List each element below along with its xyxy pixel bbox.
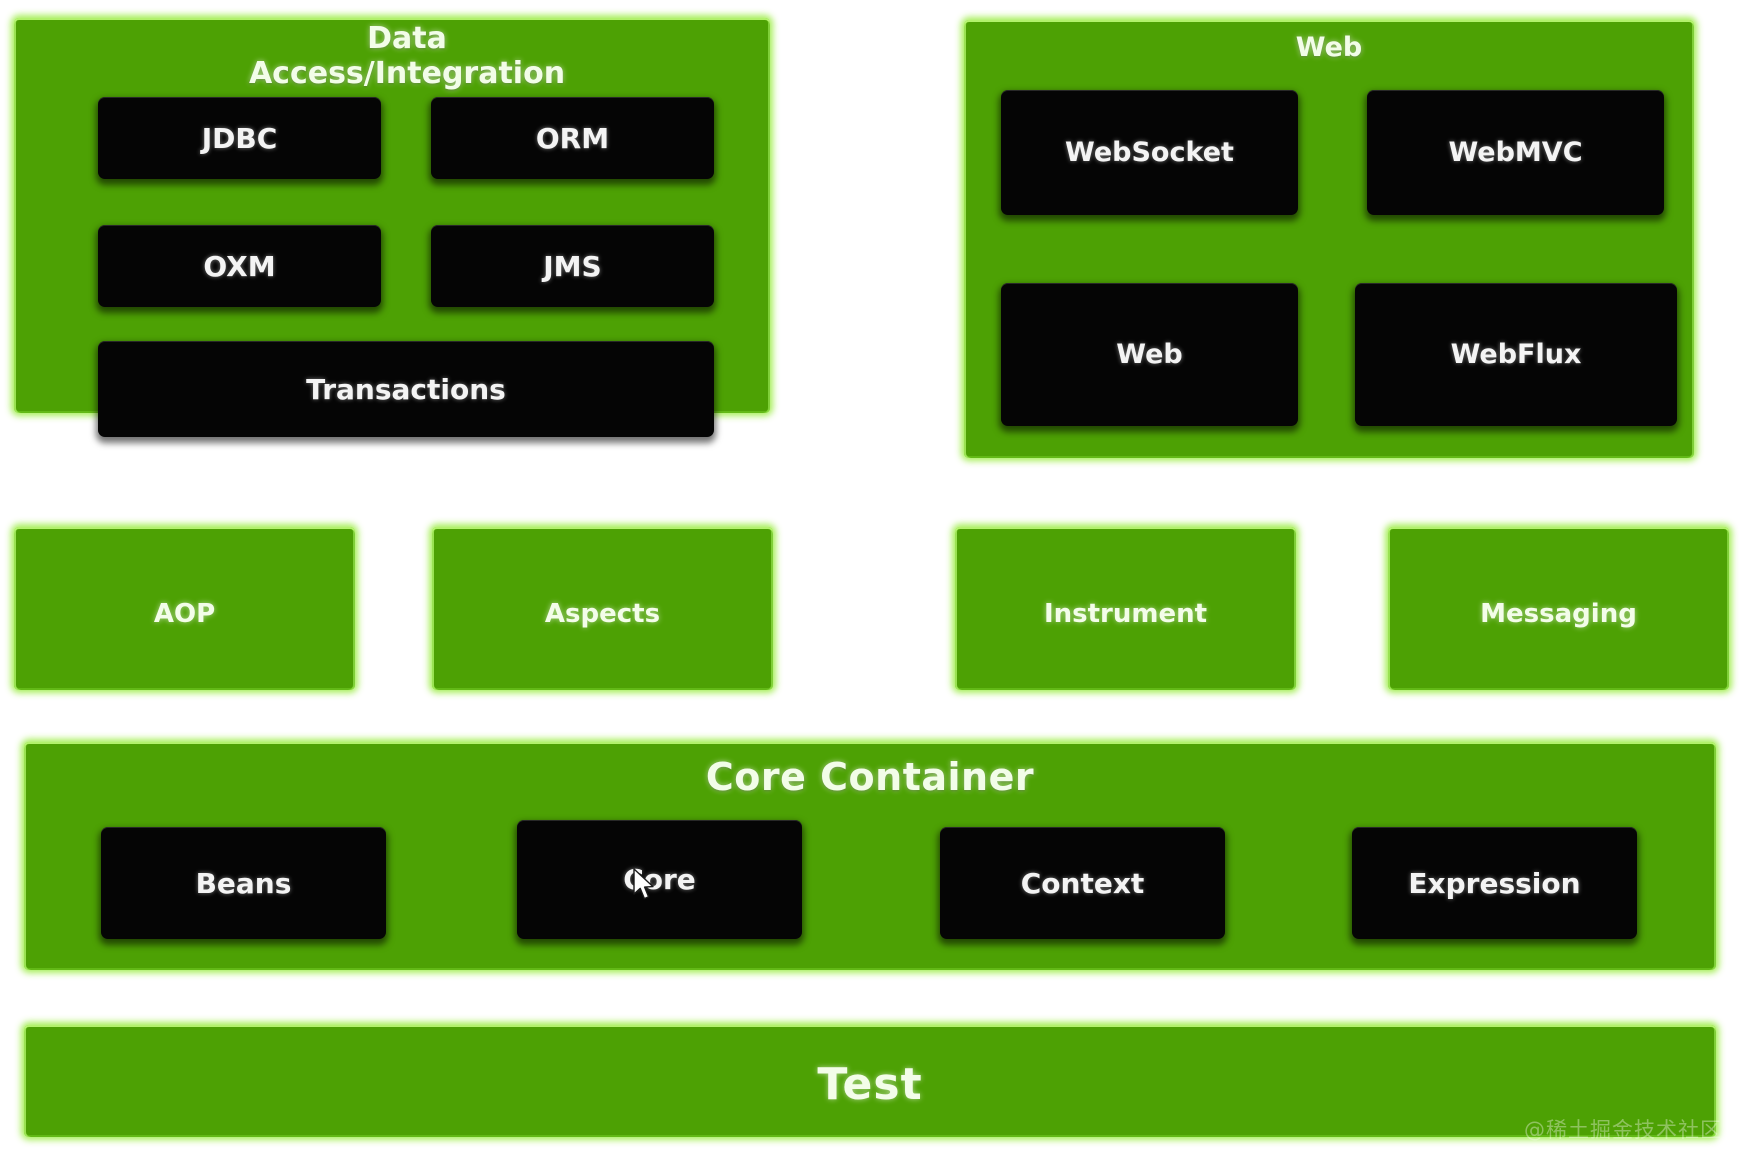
module-instrument[interactable]: Instrument (955, 527, 1296, 690)
module-expression-label: Expression (1408, 867, 1580, 900)
module-aop-label: AOP (14, 599, 355, 629)
module-jms[interactable]: JMS (431, 225, 714, 307)
module-jdbc-label: JDBC (202, 122, 278, 155)
module-expression[interactable]: Expression (1352, 827, 1637, 939)
module-transactions[interactable]: Transactions (98, 341, 714, 437)
module-websocket[interactable]: WebSocket (1001, 90, 1298, 215)
module-beans[interactable]: Beans (101, 827, 386, 939)
diagram-canvas: Data Access/Integration JDBC ORM OXM JMS… (0, 0, 1740, 1152)
module-transactions-label: Transactions (306, 373, 506, 406)
module-instrument-label: Instrument (955, 599, 1296, 629)
module-beans-label: Beans (196, 867, 292, 900)
module-webflux[interactable]: WebFlux (1355, 283, 1677, 426)
module-core-label: Core (623, 863, 696, 896)
module-messaging-label: Messaging (1388, 599, 1729, 629)
module-orm[interactable]: ORM (431, 97, 714, 179)
module-orm-label: ORM (536, 122, 609, 155)
module-oxm[interactable]: OXM (98, 225, 381, 307)
module-aspects-label: Aspects (432, 599, 773, 629)
module-webflux-label: WebFlux (1451, 339, 1582, 370)
module-core[interactable]: Core (517, 820, 802, 939)
module-web[interactable]: Web (1001, 283, 1298, 426)
module-jms-label: JMS (543, 250, 601, 283)
module-webmvc-label: WebMVC (1448, 137, 1582, 168)
module-oxm-label: OXM (203, 250, 275, 283)
module-messaging[interactable]: Messaging (1388, 527, 1729, 690)
module-webmvc[interactable]: WebMVC (1367, 90, 1664, 215)
panel-test-label: Test (24, 1059, 1716, 1110)
module-context[interactable]: Context (940, 827, 1225, 939)
module-aop[interactable]: AOP (14, 527, 355, 690)
module-websocket-label: WebSocket (1065, 137, 1234, 168)
module-aspects[interactable]: Aspects (432, 527, 773, 690)
panel-test[interactable]: Test (24, 1025, 1716, 1137)
module-jdbc[interactable]: JDBC (98, 97, 381, 179)
module-web-label: Web (1116, 339, 1182, 370)
module-context-label: Context (1021, 867, 1145, 900)
